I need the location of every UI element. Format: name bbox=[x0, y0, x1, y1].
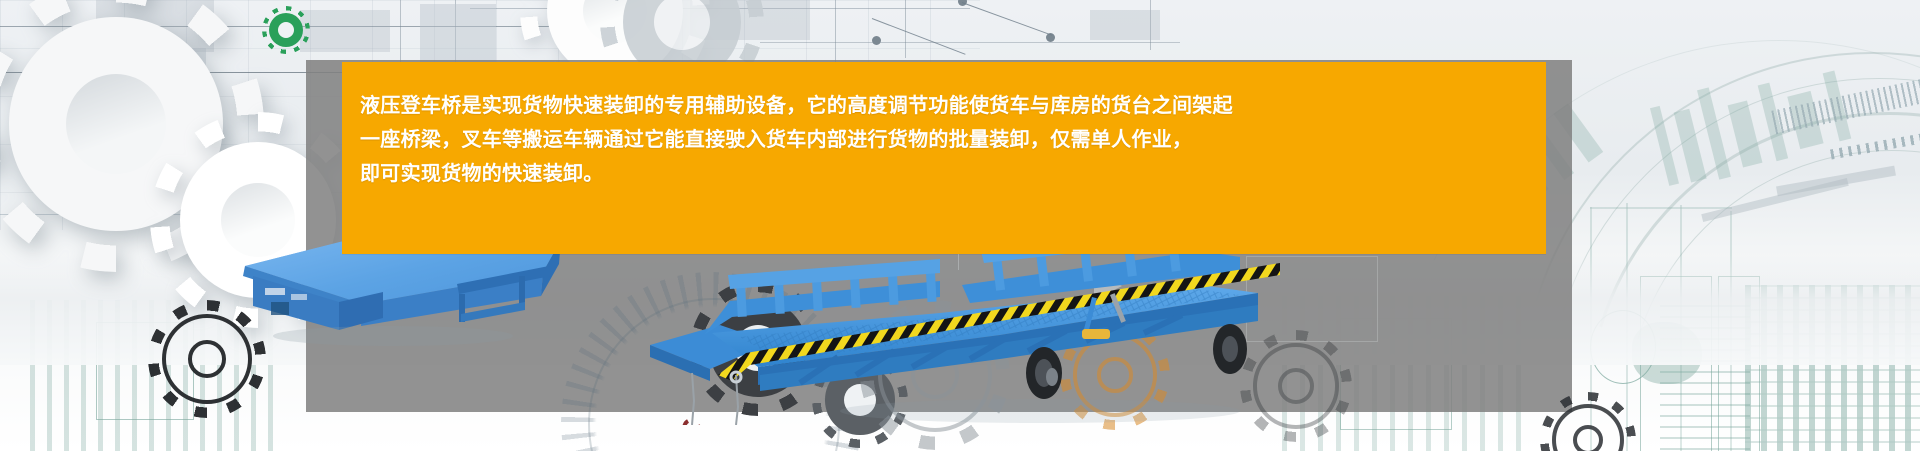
tech-block bbox=[420, 4, 496, 68]
tech-comb bbox=[1830, 131, 1920, 160]
tech-outline-box bbox=[1718, 276, 1760, 451]
tech-node bbox=[872, 36, 881, 45]
tech-outline-box bbox=[1640, 276, 1712, 451]
tech-hatch bbox=[1745, 285, 1920, 451]
tech-line bbox=[872, 18, 966, 55]
tech-block bbox=[1776, 166, 1896, 197]
tech-ellipse bbox=[1590, 310, 1656, 384]
tech-block bbox=[1090, 10, 1160, 40]
tech-node bbox=[1046, 33, 1055, 42]
product-banner: 液压登车桥是实现货物快速装卸的专用辅助设备，它的高度调节功能使货车与库房的货台之… bbox=[0, 0, 1920, 451]
tech-rule bbox=[1150, 0, 1151, 50]
tech-comb bbox=[1771, 78, 1920, 135]
tech-block bbox=[1701, 178, 1848, 222]
tech-block bbox=[300, 10, 390, 52]
tech-line bbox=[962, 2, 1053, 36]
mobile-ramp-illustration bbox=[640, 225, 1280, 425]
wheel bbox=[1213, 324, 1247, 374]
wheel bbox=[1026, 347, 1062, 399]
gear-icon bbox=[262, 6, 310, 54]
tech-rule bbox=[760, 42, 1180, 43]
description-card: 液压登车桥是实现货物快速装卸的专用辅助设备，它的高度调节功能使货车与库房的货台之… bbox=[342, 62, 1546, 254]
tech-hatch bbox=[1660, 305, 1750, 451]
tech-node bbox=[958, 0, 967, 6]
description-text: 液压登车桥是实现货物快速装卸的专用辅助设备，它的高度调节功能使货车与库房的货台之… bbox=[360, 89, 1530, 191]
tech-bar-cluster bbox=[1650, 55, 1890, 215]
tech-blob bbox=[1632, 322, 1702, 384]
product-mobile-dock-ramp bbox=[640, 225, 1280, 425]
tech-rule bbox=[905, 0, 906, 58]
